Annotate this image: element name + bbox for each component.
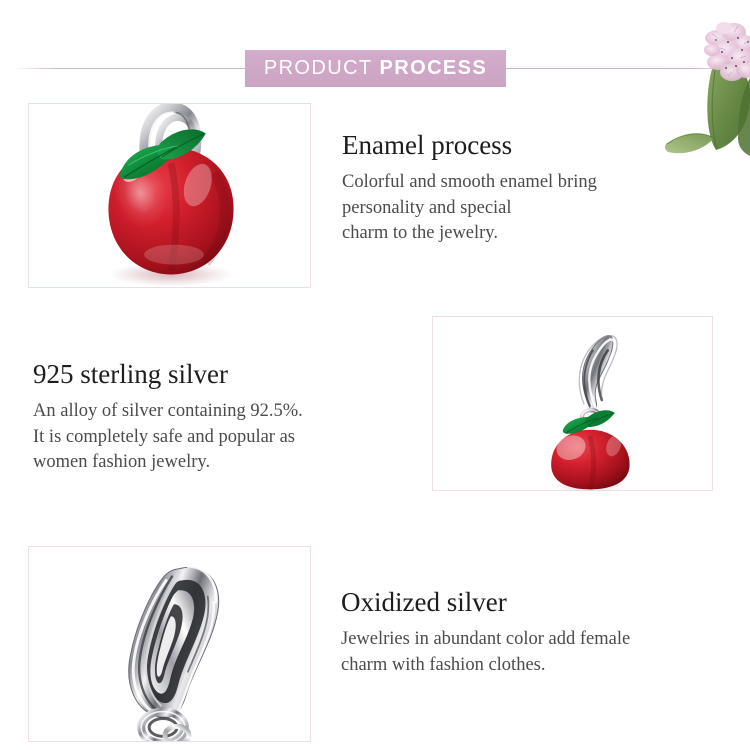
section-image-oxidized-silver[interactable]: [28, 546, 311, 742]
section-title-oxidized-silver: Oxidized silver: [341, 586, 630, 618]
body-line: women fashion jewelry.: [33, 450, 303, 476]
section-text-oxidized-silver: Oxidized silver Jewelries in abundant co…: [341, 586, 630, 678]
section-title-enamel: Enamel process: [342, 129, 597, 161]
section-body-sterling-silver: An alloy of silver containing 92.5%. It …: [33, 399, 303, 476]
oxidized-silver-bail-closeup-image: [29, 547, 310, 741]
body-line: Colorful and smooth enamel bring: [342, 170, 597, 196]
body-line: Jewelries in abundant color add female: [341, 627, 630, 653]
section-image-sterling-silver[interactable]: [432, 316, 713, 491]
body-line: charm with fashion clothes.: [341, 653, 630, 679]
section-text-sterling-silver: 925 sterling silver An alloy of silver c…: [33, 358, 303, 476]
red-enamel-apple-charm-closeup-image: [29, 104, 310, 287]
banner-label-process: PROCESS: [380, 57, 488, 80]
page-header: PRODUCT PROCESS: [0, 20, 750, 80]
body-line: It is completely safe and popular as: [33, 425, 303, 451]
body-line: An alloy of silver containing 92.5%.: [33, 399, 303, 425]
product-process-page: PRODUCT PROCESS: [0, 0, 750, 750]
section-title-sterling-silver: 925 sterling silver: [33, 358, 303, 390]
section-image-enamel[interactable]: [28, 103, 311, 288]
header-banner: PRODUCT PROCESS: [245, 50, 506, 87]
body-line: personality and special: [342, 196, 597, 222]
section-body-enamel: Colorful and smooth enamel bring persona…: [342, 170, 597, 247]
section-body-oxidized-silver: Jewelries in abundant color add female c…: [341, 627, 630, 678]
body-line: charm to the jewelry.: [342, 221, 597, 247]
banner-label-product: PRODUCT: [264, 57, 373, 80]
apple-charm-with-silver-bail-image: [433, 317, 712, 490]
section-text-enamel: Enamel process Colorful and smooth ename…: [342, 129, 597, 247]
